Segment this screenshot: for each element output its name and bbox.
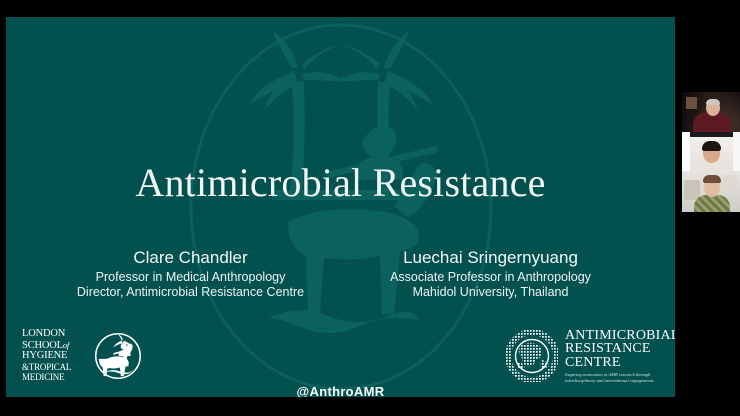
wall-picture <box>686 97 697 109</box>
speaker-affiliation: Director, Antimicrobial Resistance Centr… <box>41 285 341 300</box>
speaker-block-2: Luechai Sringernyuang Associate Professo… <box>341 248 641 300</box>
video-participant-panel[interactable] <box>682 92 740 212</box>
participant-scarf <box>694 195 730 212</box>
speaker-role: Professor in Medical Anthropology <box>41 270 341 285</box>
arc-line-2: RESISTANCE <box>565 342 675 356</box>
social-handle: @AnthroAMR <box>6 384 675 397</box>
lshtm-logo: LONDON SCHOOLof HYGIENE &TROPICAL MEDICI… <box>22 325 142 387</box>
lshtm-logo-wordmark: LONDON SCHOOLof HYGIENE &TROPICAL MEDICI… <box>22 329 91 383</box>
globe-icon <box>506 330 558 382</box>
speakers-row: Clare Chandler Professor in Medical Anth… <box>6 248 675 300</box>
lshtm-line-4: &TROPICAL <box>22 362 91 373</box>
participant-video-tile-3[interactable] <box>682 171 740 212</box>
arc-line-1: ANTIMICROBIAL <box>565 329 675 343</box>
speaker-affiliation: Mahidol University, Thailand <box>341 285 641 300</box>
lshtm-line-2-italic: of <box>63 340 69 350</box>
lshtm-line-1: LONDON <box>22 329 91 340</box>
participant-hair <box>706 99 720 105</box>
background-object-right <box>723 175 737 191</box>
speaker-role: Associate Professor in Anthropology <box>341 270 641 285</box>
arc-logo: ANTIMICROBIAL RESISTANCE CENTRE Inspirin… <box>506 326 675 386</box>
lshtm-crest-watermark-icon <box>176 17 506 397</box>
participant-video-tile-1[interactable] <box>682 92 740 132</box>
wall-left <box>682 132 690 171</box>
screen-root: Antimicrobial Resistance Clare Chandler … <box>0 0 740 416</box>
presentation-slide: Antimicrobial Resistance Clare Chandler … <box>6 17 675 397</box>
arc-line-3: CENTRE <box>565 356 675 370</box>
participant-video-tile-2[interactable] <box>682 132 740 171</box>
video-letterbox-bar <box>682 132 740 137</box>
speaker-name: Luechai Sringernyuang <box>341 248 641 268</box>
lshtm-line-2-text: SCHOOL <box>22 340 63 351</box>
speaker-name: Clare Chandler <box>41 248 341 268</box>
participant-hair <box>703 175 721 183</box>
lshtm-crest-icon <box>94 331 142 381</box>
lshtm-line-3: HYGIENE <box>22 351 91 362</box>
arc-tagline: Inspiring innovation in AMR research thr… <box>565 372 673 383</box>
lshtm-line-5: MEDICINE <box>22 372 91 383</box>
participant-hair <box>702 141 721 151</box>
arc-logo-wordmark: ANTIMICROBIAL RESISTANCE CENTRE Inspirin… <box>565 329 675 384</box>
wall-right <box>733 132 740 171</box>
page-title: Antimicrobial Resistance <box>6 160 675 206</box>
speaker-block-1: Clare Chandler Professor in Medical Anth… <box>41 248 341 300</box>
